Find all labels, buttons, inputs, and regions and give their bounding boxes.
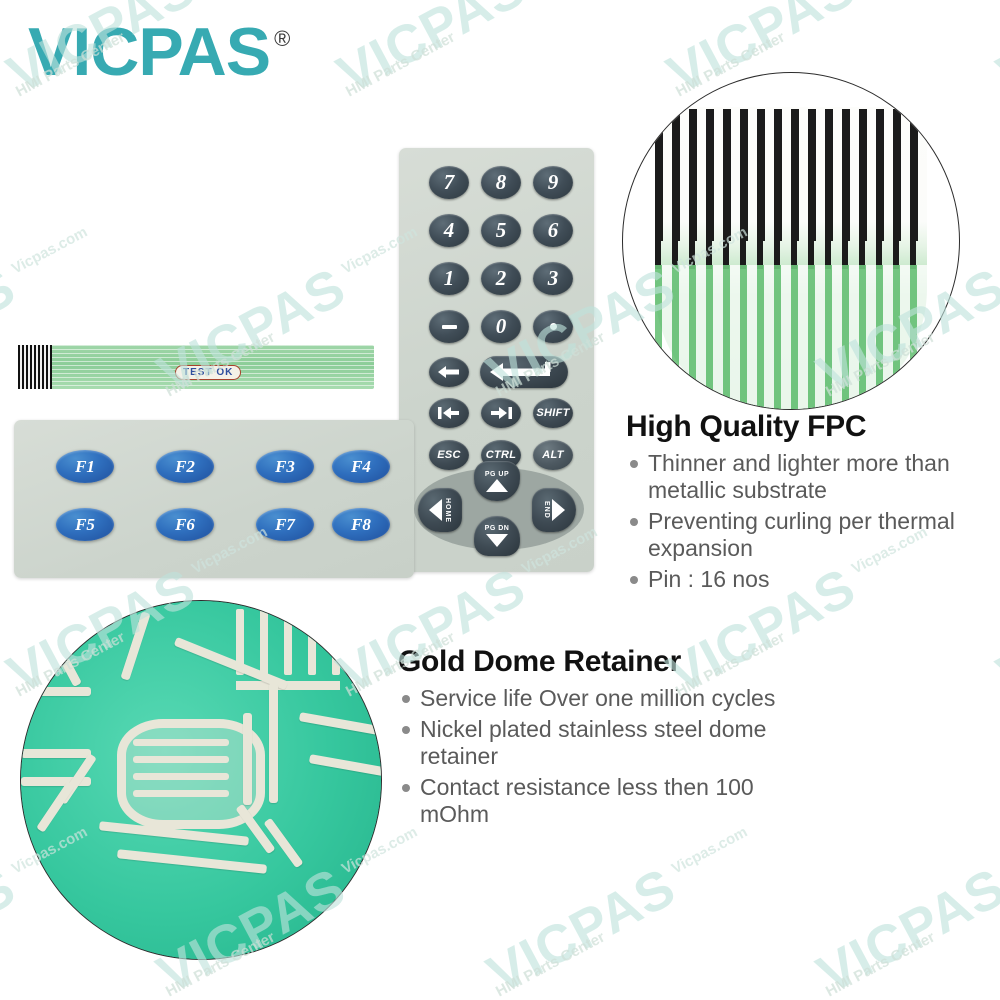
- key-f7[interactable]: F7: [256, 508, 314, 541]
- list-item: Preventing curling per thermal expansion: [626, 508, 986, 562]
- watermark-text: VICPAS: [987, 0, 1000, 106]
- vicpas-logo: VICPAS®: [28, 18, 290, 86]
- flex-cable-pins: [18, 345, 52, 389]
- dome-trace-vert-1: [269, 683, 278, 803]
- key-tab-left[interactable]: [429, 398, 469, 428]
- dome-finger-1: [133, 739, 229, 746]
- watermark-subtext: HMI Parts Center: [823, 929, 938, 1000]
- key-f8[interactable]: F8: [332, 508, 390, 541]
- logo-wordmark: VICPAS: [28, 18, 270, 86]
- callout-fpc: High Quality FPC Thinner and lighter mor…: [626, 410, 986, 597]
- watermark-subtext: HMI Parts Center: [493, 929, 608, 1000]
- key-page-up[interactable]: PG UP: [474, 461, 520, 501]
- arrow-up-icon: [486, 479, 508, 492]
- key-1[interactable]: 1: [429, 262, 469, 295]
- key-8[interactable]: 8: [481, 166, 521, 199]
- callout-gold-dome-title: Gold Dome Retainer: [398, 645, 798, 679]
- key-end[interactable]: END: [532, 488, 576, 532]
- key-f4[interactable]: F4: [332, 450, 390, 483]
- watermark-text: VICPAS: [477, 856, 685, 1000]
- dot-icon: [550, 323, 557, 330]
- dome-trace-h-1: [31, 687, 91, 696]
- registered-mark-icon: ®: [274, 26, 290, 52]
- callout-gold-dome: Gold Dome Retainer Service life Over one…: [398, 645, 798, 832]
- key-5[interactable]: 5: [481, 214, 521, 247]
- callout-fpc-title: High Quality FPC: [626, 410, 986, 444]
- arrow-right-nav-icon: [552, 499, 565, 521]
- gold-dome-detail-circle: [20, 600, 382, 960]
- watermark-subtext: HMI Parts Center: [343, 29, 458, 101]
- key-home-label: HOME: [444, 498, 451, 523]
- key-alt[interactable]: ALT: [533, 440, 573, 470]
- key-minus[interactable]: [429, 310, 469, 343]
- key-backspace[interactable]: [429, 357, 469, 387]
- key-f3[interactable]: F3: [256, 450, 314, 483]
- dome-finger-4: [133, 790, 229, 797]
- dome-comb-traces: [236, 609, 340, 690]
- key-end-label: END: [543, 501, 550, 519]
- key-shift[interactable]: SHIFT: [533, 398, 573, 428]
- key-0[interactable]: 0: [481, 310, 521, 343]
- key-4[interactable]: 4: [429, 214, 469, 247]
- watermark-text: VICPAS: [987, 556, 1000, 706]
- key-page-down-label: PG DN: [485, 525, 510, 532]
- callout-gold-dome-list: Service life Over one million cycles Nic…: [398, 685, 798, 828]
- key-esc[interactable]: ESC: [429, 440, 469, 470]
- key-enter[interactable]: [480, 356, 568, 388]
- tab-left-icon: [438, 407, 460, 419]
- list-item: Pin : 16 nos: [626, 566, 986, 593]
- key-f6[interactable]: F6: [156, 508, 214, 541]
- dome-trace-vert-2: [243, 713, 252, 805]
- key-9[interactable]: 9: [533, 166, 573, 199]
- key-3[interactable]: 3: [533, 262, 573, 295]
- watermark-text: VICPAS: [807, 856, 1000, 1000]
- list-item: Service life Over one million cycles: [398, 685, 798, 712]
- arrow-down-icon: [486, 534, 508, 547]
- key-page-down[interactable]: PG DN: [474, 516, 520, 556]
- key-tab-right[interactable]: [481, 398, 521, 428]
- list-item: Nickel plated stainless steel dome retai…: [398, 716, 798, 770]
- list-item: Thinner and lighter more than metallic s…: [626, 450, 986, 504]
- product-image-canvas: VICPAS® 7 8 9 4 5 6 1 2 3 0: [0, 0, 1000, 1000]
- dome-finger-2: [133, 756, 229, 763]
- test-ok-stamp: TEST OK: [175, 365, 241, 380]
- key-page-up-label: PG UP: [485, 471, 509, 478]
- fpc-detail-circle: [622, 72, 960, 410]
- arrow-left-nav-icon: [429, 499, 442, 521]
- key-7[interactable]: 7: [429, 166, 469, 199]
- key-f5[interactable]: F5: [56, 508, 114, 541]
- enter-arrow-icon: [490, 362, 558, 382]
- fpc-green-traces: [655, 265, 927, 409]
- key-6[interactable]: 6: [533, 214, 573, 247]
- key-decimal[interactable]: [533, 310, 573, 343]
- callout-fpc-list: Thinner and lighter more than metallic s…: [626, 450, 986, 593]
- fpc-contact-pins: [655, 109, 927, 241]
- dome-finger-3: [133, 773, 229, 780]
- tab-right-icon: [490, 407, 512, 419]
- dome-trace-h-2: [21, 749, 91, 758]
- watermark-text: VICPAS: [327, 0, 535, 106]
- key-f2[interactable]: F2: [156, 450, 214, 483]
- key-home[interactable]: HOME: [418, 488, 462, 532]
- arrow-left-icon: [438, 366, 460, 378]
- watermark-domain: Vicpas.com: [669, 823, 750, 877]
- minus-icon: [442, 325, 457, 329]
- list-item: Contact resistance less then 100 mOhm: [398, 774, 798, 828]
- key-f1[interactable]: F1: [56, 450, 114, 483]
- keypad-panel-function: [14, 420, 414, 578]
- key-2[interactable]: 2: [481, 262, 521, 295]
